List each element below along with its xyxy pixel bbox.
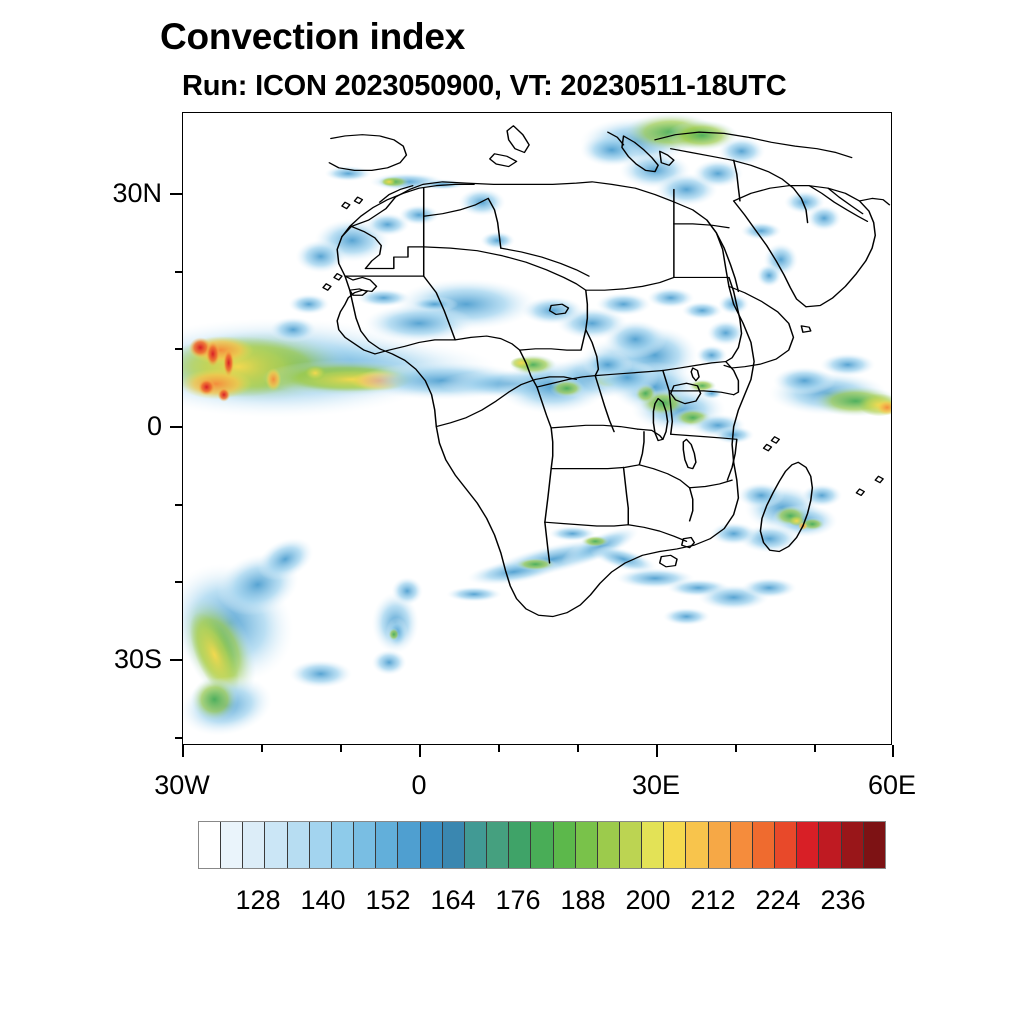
colorbar-cell-11 — [443, 822, 465, 868]
x-tick-label-60e: 60E — [842, 770, 942, 801]
colorbar-cell-14 — [509, 822, 531, 868]
y-tick-label-30s: 30S — [30, 644, 162, 675]
colorbar-cell-25 — [753, 822, 775, 868]
map-plot-area — [182, 112, 892, 745]
colorbar-cell-21 — [664, 822, 686, 868]
colorbar-cell-29 — [842, 822, 864, 868]
colorbar-cell-12 — [465, 822, 487, 868]
colorbar-cell-13 — [487, 822, 509, 868]
convection-arabia — [696, 191, 842, 366]
colorbar-label-236: 236 — [803, 885, 883, 916]
map-svg — [183, 113, 891, 744]
colorbar-cell-19 — [620, 822, 642, 868]
colorbar-cell-0 — [199, 822, 221, 868]
convection-sw-atlantic-front — [183, 529, 352, 744]
figure-canvas: Convection index Run: ICON 2023050900, V… — [0, 0, 1024, 1024]
colorbar-cell-24 — [731, 822, 753, 868]
x-tick-label-30e: 30E — [606, 770, 706, 801]
y-tick-label-30n: 30N — [30, 178, 162, 209]
y-tick-label-0: 0 — [30, 411, 162, 442]
colorbar[interactable] — [198, 821, 886, 869]
page-title: Convection index — [160, 16, 465, 58]
page-subtitle: Run: ICON 2023050900, VT: 20230511-18UTC — [182, 70, 787, 103]
colorbar-cell-8 — [376, 822, 398, 868]
colorbar-cell-26 — [775, 822, 797, 868]
colorbar-cell-9 — [398, 822, 420, 868]
colorbar-cell-7 — [354, 822, 376, 868]
colorbar-cell-27 — [797, 822, 819, 868]
colorbar-cell-15 — [531, 822, 553, 868]
x-tick-label-0: 0 — [369, 770, 469, 801]
convection-mediterranean — [325, 113, 766, 206]
convection-southern-ocean-band — [447, 520, 730, 602]
colorbar-cell-17 — [576, 822, 598, 868]
convection-south-atlantic — [372, 577, 423, 675]
colorbar-cell-4 — [288, 822, 310, 868]
x-tick-label-30w: 30W — [132, 770, 232, 801]
colorbar-cell-10 — [421, 822, 443, 868]
colorbar-cell-3 — [265, 822, 287, 868]
convection-madagascar — [710, 483, 842, 553]
colorbar-cell-2 — [243, 822, 265, 868]
colorbar-cell-23 — [709, 822, 731, 868]
colorbar-cell-30 — [864, 822, 885, 868]
colorbar-cell-28 — [819, 822, 841, 868]
colorbar-cell-16 — [554, 822, 576, 868]
colorbar-cell-6 — [332, 822, 354, 868]
colorbar-cell-20 — [642, 822, 664, 868]
colorbar-cell-18 — [598, 822, 620, 868]
colorbar-cell-1 — [221, 822, 243, 868]
colorbar-cell-22 — [686, 822, 708, 868]
colorbar-cell-5 — [310, 822, 332, 868]
convection-indian-ocean — [769, 353, 891, 416]
